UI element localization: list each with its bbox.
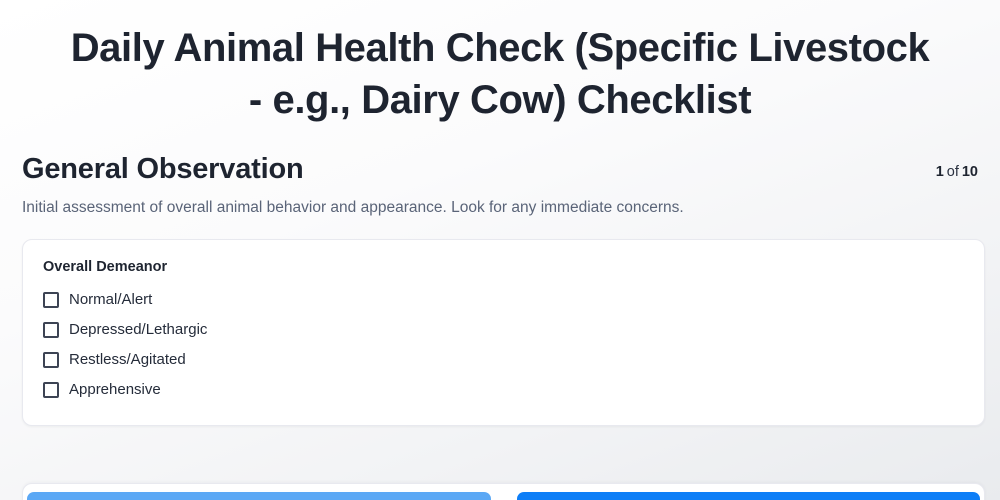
- step-current: 1: [936, 164, 944, 180]
- checkbox-option[interactable]: Normal/Alert: [43, 285, 964, 315]
- checkbox-option[interactable]: Apprehensive: [43, 375, 964, 405]
- footer-action-bar: Previous Next: [22, 483, 985, 500]
- section-title: General Observation: [22, 152, 303, 186]
- checkbox-option[interactable]: Depressed/Lethargic: [43, 315, 964, 345]
- checkbox-option-list: Normal/Alert Depressed/Lethargic Restles…: [43, 285, 964, 405]
- step-total: 10: [962, 164, 978, 180]
- checkbox-icon[interactable]: [43, 352, 59, 368]
- question-card: Overall Demeanor Normal/Alert Depressed/…: [22, 239, 985, 426]
- checkbox-option-label: Normal/Alert: [69, 290, 152, 310]
- step-of-label: of: [947, 164, 959, 180]
- checkbox-icon[interactable]: [43, 382, 59, 398]
- checkbox-option-label: Restless/Agitated: [69, 350, 186, 370]
- checkbox-icon[interactable]: [43, 322, 59, 338]
- checkbox-icon[interactable]: [43, 292, 59, 308]
- section-description: Initial assessment of overall animal beh…: [0, 186, 1000, 219]
- question-label: Overall Demeanor: [43, 257, 964, 277]
- step-counter: 1of10: [936, 162, 978, 186]
- page-title: Daily Animal Health Check (Specific Live…: [0, 0, 1000, 126]
- previous-button[interactable]: Previous: [27, 492, 491, 500]
- section-header: General Observation 1of10: [0, 126, 1000, 186]
- checkbox-option-label: Apprehensive: [69, 380, 161, 400]
- next-button[interactable]: Next: [517, 492, 981, 500]
- checklist-app: Daily Animal Health Check (Specific Live…: [0, 0, 1000, 500]
- checkbox-option[interactable]: Restless/Agitated: [43, 345, 964, 375]
- checkbox-option-label: Depressed/Lethargic: [69, 320, 207, 340]
